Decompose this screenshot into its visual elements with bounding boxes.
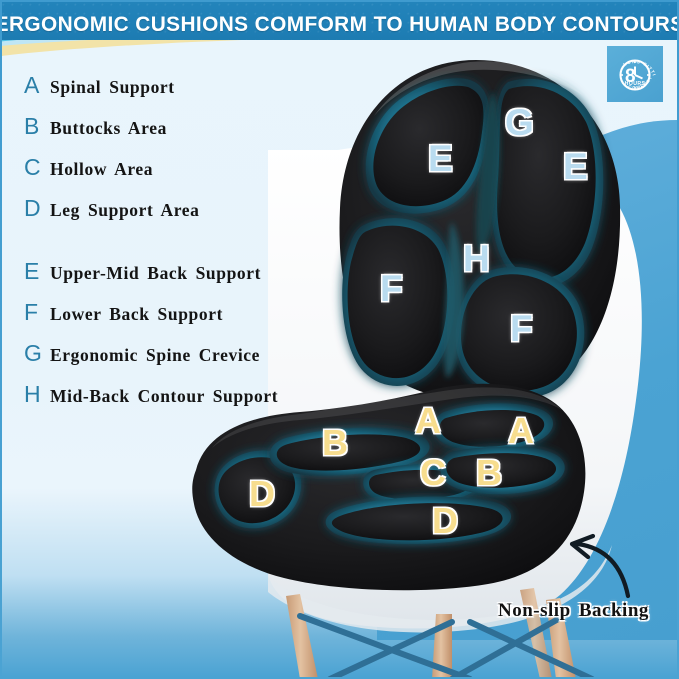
infographic-poster: ERGONOMIC CUSHIONS COMFORM TO HUMAN BODY… xyxy=(0,0,679,679)
legend-key-d: D xyxy=(24,197,50,220)
legend-key-c: C xyxy=(24,156,50,179)
legend-label-f: Lower Back Support xyxy=(50,306,223,324)
seat-label-d-6: D xyxy=(432,503,458,539)
backrest-label-e-2: E xyxy=(563,148,588,185)
legend-label-c: Hollow Area xyxy=(50,161,153,179)
backrest-label-h-4: H xyxy=(463,240,490,277)
legend-item-g: G Ergonomic Spine Crevice xyxy=(24,342,344,383)
legend-group-back: E Upper-Mid Back Support F Lower Back Su… xyxy=(24,260,344,424)
legend-item-d: D Leg Support Area xyxy=(24,197,344,238)
legend-key-b: B xyxy=(24,115,50,138)
legend-item-b: B Buttocks Area xyxy=(24,115,344,156)
legend-item-f: F Lower Back Support xyxy=(24,301,344,342)
seat-label-a-2: A xyxy=(415,403,441,439)
backrest-label-f-3: F xyxy=(380,270,403,307)
seat-label-a-5: A xyxy=(508,413,534,449)
legend-label-a: Spinal Support xyxy=(50,79,175,97)
legend-key-h: H xyxy=(24,383,50,406)
backrest-label-e-0: E xyxy=(428,140,453,177)
legend-item-e: E Upper-Mid Back Support xyxy=(24,260,344,301)
non-slip-backing-label: Non-slip Backing xyxy=(498,600,649,622)
legend-label-b: Buttocks Area xyxy=(50,120,167,138)
seat-label-d-0: D xyxy=(249,476,275,512)
legend-item-c: C Hollow Area xyxy=(24,156,344,197)
legend-label-d: Leg Support Area xyxy=(50,202,199,220)
legend-label-e: Upper-Mid Back Support xyxy=(50,265,261,283)
seat-label-b-1: B xyxy=(322,425,348,461)
clock-icon: 8 HOURS LONG SITTING COMFORT xyxy=(608,47,662,101)
legend: A Spinal Support B Buttocks Area C Hollo… xyxy=(24,74,344,424)
legend-label-g: Ergonomic Spine Crevice xyxy=(50,347,260,365)
legend-item-h: H Mid-Back Contour Support xyxy=(24,383,344,424)
legend-key-f: F xyxy=(24,301,50,324)
legend-label-h: Mid-Back Contour Support xyxy=(50,388,278,406)
seat-label-c-3: C xyxy=(420,455,446,491)
header-band: ERGONOMIC CUSHIONS COMFORM TO HUMAN BODY… xyxy=(2,2,677,46)
legend-separator xyxy=(24,238,344,260)
legend-item-a: A Spinal Support xyxy=(24,74,344,115)
backrest-label-f-5: F xyxy=(510,310,533,347)
legend-key-e: E xyxy=(24,260,50,283)
legend-key-a: A xyxy=(24,74,50,97)
backrest-label-g-1: G xyxy=(505,104,534,141)
badge-8-hours: 8 HOURS LONG SITTING COMFORT xyxy=(607,46,663,102)
legend-group-seat: A Spinal Support B Buttocks Area C Hollo… xyxy=(24,74,344,238)
page-title: ERGONOMIC CUSHIONS COMFORM TO HUMAN BODY… xyxy=(2,12,677,37)
legend-key-g: G xyxy=(24,342,50,365)
seat-label-b-4: B xyxy=(476,455,502,491)
